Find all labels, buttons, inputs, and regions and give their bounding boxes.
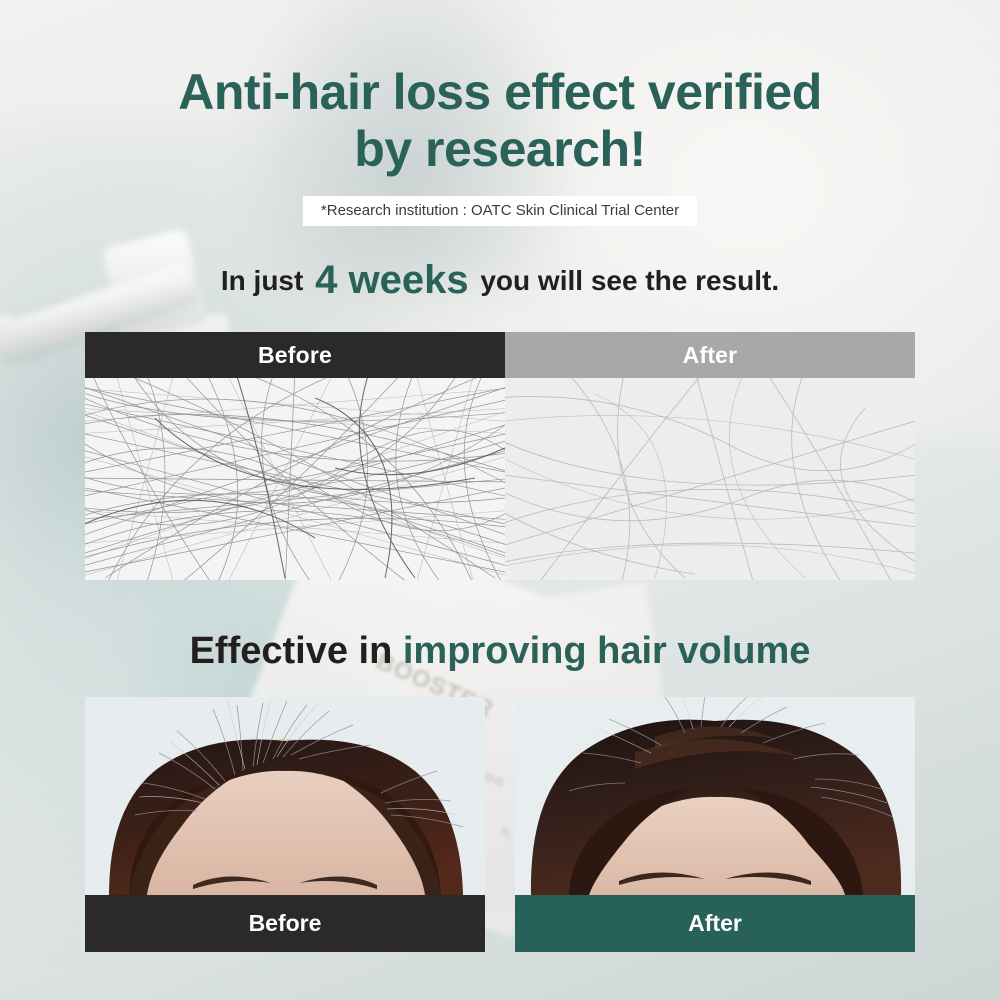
subline-accent-weeks: 4 weeks <box>311 258 472 302</box>
volume-after-label: After <box>515 895 915 952</box>
promo-poster: BOOSTER IN ion fl. oz Anti-hair loss eff… <box>0 0 1000 1000</box>
subline-prefix: In just <box>221 265 303 296</box>
shed-hair-after-image <box>505 378 915 580</box>
shed-hair-before-image <box>85 378 505 580</box>
section-heading-volume: Effective in improving hair volume <box>0 630 1000 673</box>
volume-before-label: Before <box>85 895 485 952</box>
headline-line-2: by research! <box>0 121 1000 178</box>
page-title: Anti-hair loss effect verified by resear… <box>0 64 1000 178</box>
volume-before-panel: Before <box>85 697 485 952</box>
volume-after-photo <box>515 697 915 895</box>
shed-hair-before-column: Before <box>85 332 505 580</box>
heading2-plain: Effective in <box>190 630 393 672</box>
shed-hair-after-label: After <box>505 332 915 378</box>
timeframe-subheading: In just 4 weeks you will see the result. <box>0 258 1000 303</box>
headline-line-1: Anti-hair loss effect verified <box>0 64 1000 121</box>
volume-after-panel: After <box>515 697 915 952</box>
shed-hair-after-column: After <box>505 332 915 580</box>
volume-before-photo <box>85 697 485 895</box>
shed-hair-comparison: Before <box>85 332 915 580</box>
heading2-accent: improving hair volume <box>403 630 811 672</box>
research-institution-caption: *Research institution : OATC Skin Clinic… <box>303 196 697 226</box>
shed-hair-before-label: Before <box>85 332 505 378</box>
subline-suffix: you will see the result. <box>480 265 779 296</box>
